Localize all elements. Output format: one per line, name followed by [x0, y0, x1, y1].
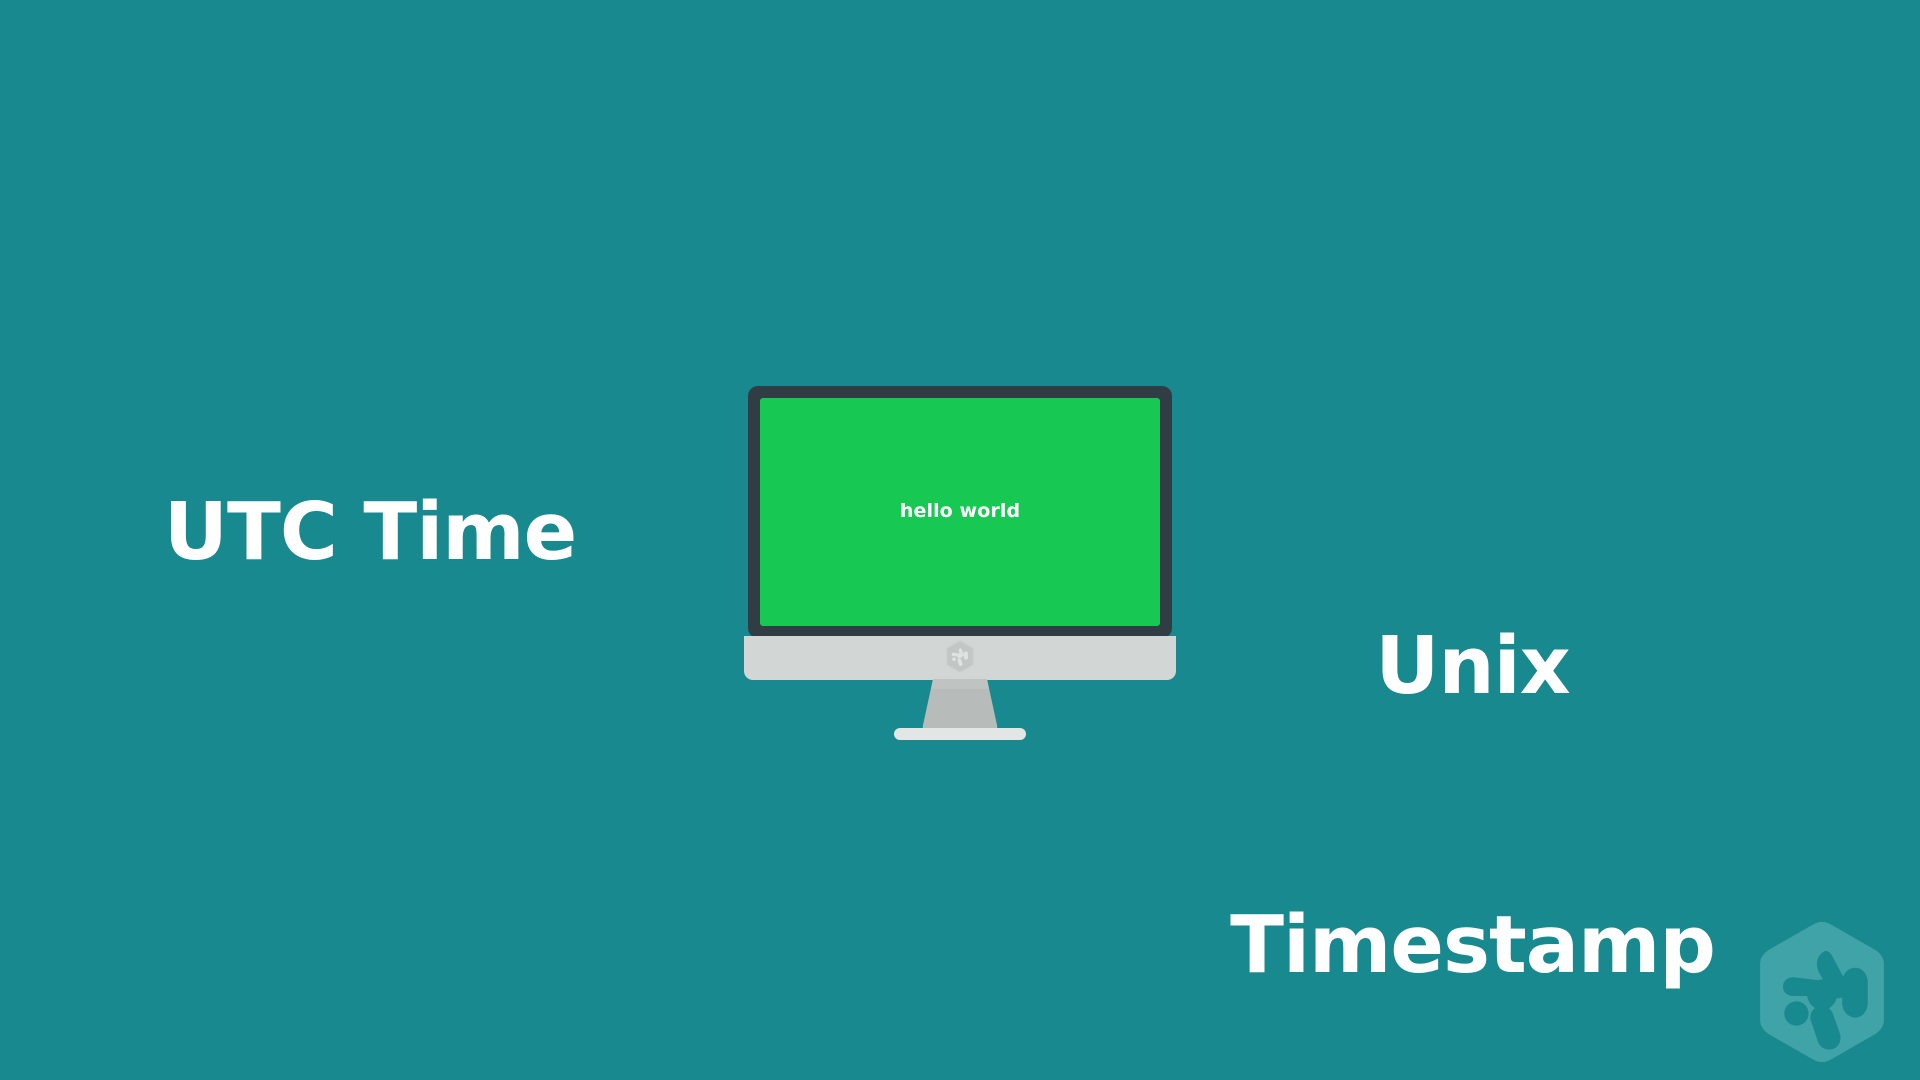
exercism-watermark-icon: [1748, 918, 1896, 1066]
unix-timestamp-label: Unix Timestamp: [1185, 434, 1760, 1080]
monitor-bezel: hello world: [748, 386, 1172, 638]
monitor-foot: [894, 728, 1026, 740]
monitor-screen: hello world: [760, 398, 1160, 626]
monitor-illustration: hello world: [744, 386, 1180, 746]
unix-timestamp-label-line1: Unix: [1185, 620, 1760, 713]
utc-time-label: UTC Time: [0, 484, 740, 580]
monitor-stand: [919, 679, 1001, 733]
unix-timestamp-label-line2: Timestamp: [1185, 899, 1760, 992]
exercism-hexagon-icon: [945, 640, 975, 673]
slide-canvas: UTC Time hello world: [0, 0, 1920, 1080]
screen-hello-world-text: hello world: [900, 500, 1020, 522]
